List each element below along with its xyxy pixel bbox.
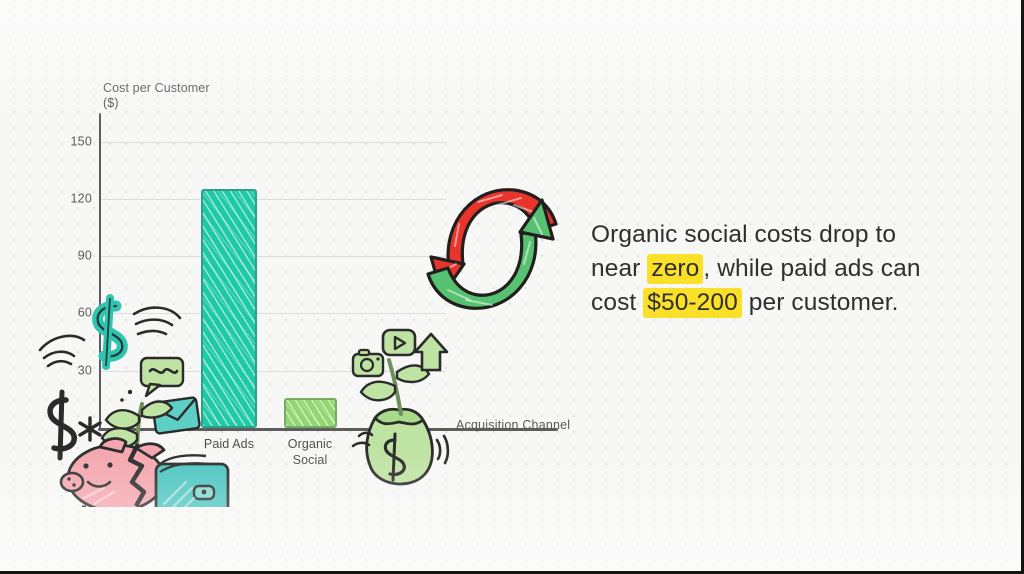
bar-label-line: Social — [262, 453, 358, 469]
wing-doodle-icon — [40, 336, 84, 366]
gridline-150 — [100, 142, 446, 143]
camera-icon — [353, 350, 383, 376]
winged-dollar-icon — [98, 298, 180, 366]
slide-canvas: Cost per Customer ($) 150 120 90 60 30 P… — [0, 0, 1024, 574]
money-speech-bubble-icon — [141, 358, 183, 396]
sparkle-asterisk-icon — [80, 418, 100, 440]
dollar-sign-icon — [50, 392, 74, 458]
y-tick-label: 150 — [71, 135, 92, 149]
wallet-icon — [156, 455, 228, 507]
bar-hatch-texture-2 — [286, 400, 335, 426]
right-doodle-group — [345, 328, 460, 498]
y-tick-label: 90 — [78, 249, 92, 263]
y-axis-title: Cost per Customer ($) — [103, 81, 273, 111]
money-bag-sprout-icon — [353, 360, 448, 484]
callout-highlight-price: $50-200 — [643, 288, 742, 318]
callout-highlight-zero: zero — [647, 254, 703, 284]
cracked-piggy-bank-icon — [61, 439, 164, 507]
left-doodle-group — [38, 292, 238, 507]
play-button-icon — [383, 330, 415, 355]
bar-label-organic-social: Organic Social — [262, 437, 358, 468]
cycle-refresh-icon — [406, 172, 576, 327]
x-axis-title: Acquisition Channel — [456, 418, 570, 432]
bar-label-line: Organic — [262, 437, 358, 453]
bar-organic-social — [284, 398, 337, 428]
y-axis-title-line-2: ($) — [103, 96, 273, 111]
gridline-120 — [100, 199, 446, 200]
y-axis-title-line-1: Cost per Customer — [103, 81, 273, 96]
callout-text: Organic social costs drop to near zero, … — [591, 218, 936, 320]
up-arrow-icon — [415, 334, 447, 370]
gridline-90 — [100, 256, 446, 257]
callout-segment: per customer. — [742, 289, 899, 316]
y-tick-label: 120 — [71, 192, 92, 206]
